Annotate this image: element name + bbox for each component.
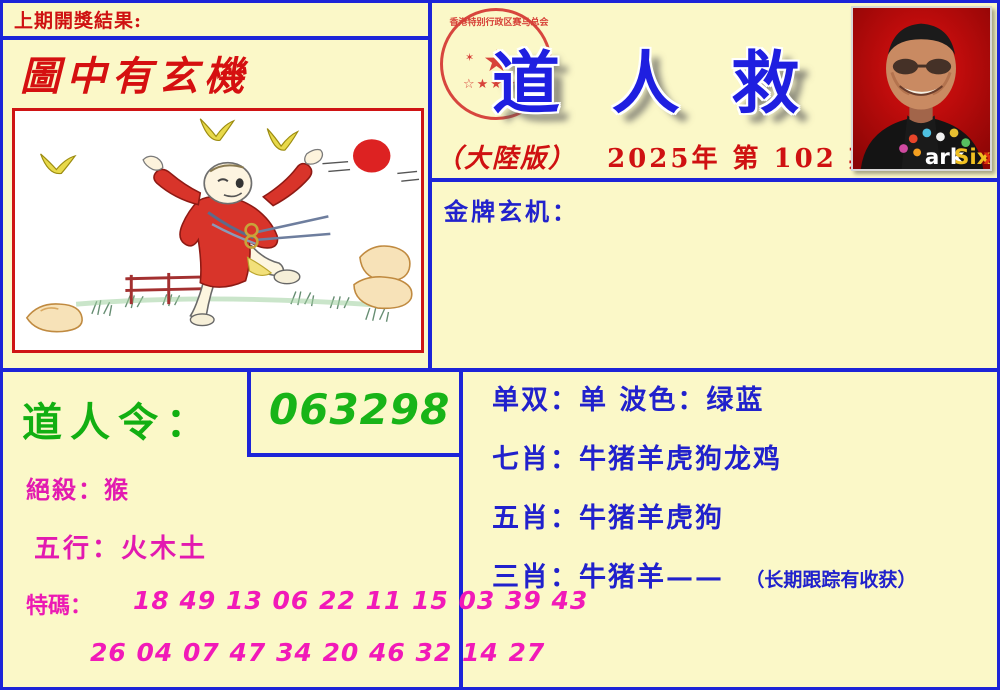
svg-text:x: x	[983, 145, 990, 169]
divider-middle-horizontal	[2, 368, 998, 372]
last-result-label: 上期開獎結果:	[14, 6, 142, 33]
forecast-row-seven-zodiac: 七肖：牛猪羊虎狗龙鸡	[470, 437, 994, 476]
lucky-code-value: 063298	[269, 385, 450, 434]
forecast-label-0: 单双：单 波色：绿蓝	[492, 385, 764, 416]
forecast-row-five-zodiac: 五肖：牛猪羊虎狗	[470, 496, 994, 535]
forecast-note-3: （长期跟踪有收获）	[745, 569, 916, 591]
juesha-line: 絕殺：猴	[26, 470, 130, 505]
forecast-label-2: 五肖：牛猪羊虎狗	[492, 503, 724, 534]
code-box: 063298	[247, 371, 459, 457]
forecast-label-3: 三肖：牛猪羊——	[492, 562, 724, 593]
portrait-image: ark Six x	[853, 8, 990, 169]
forecast-label-1: 七肖：牛猪羊虎狗龙鸡	[492, 444, 782, 475]
poster-root: 上期開獎結果: 圖中有玄機	[0, 0, 1000, 690]
divider-top-left-horizontal	[2, 36, 430, 40]
forecast-row-three-zodiac: 三肖：牛猪羊—— （长期跟踪有收获）	[470, 555, 994, 594]
special-code-label: 特碼：	[26, 588, 92, 620]
forecast-panel: 单双：单 波色：绿蓝 七肖：牛猪羊虎狗龙鸡 五肖：牛猪羊虎狗 三肖：牛猪羊—— …	[470, 378, 994, 614]
special-code-row-2: 26 04 07 47 34 20 46 32 14 27	[90, 638, 545, 667]
edition-label: （大陸版）	[436, 144, 576, 174]
issue-line: （大陸版） 2025年 第 102 期	[436, 138, 878, 175]
frame-border-top	[0, 0, 1000, 3]
author-portrait: ark Six x	[851, 6, 992, 171]
wuxing-line: 五行：火木土	[34, 528, 208, 565]
seal-star-side-icon: ✶	[465, 51, 474, 64]
divider-main-vertical	[428, 0, 432, 372]
golden-secret-label: 金牌玄机：	[444, 192, 579, 227]
frame-border-left	[0, 0, 3, 690]
riddle-illustration	[15, 111, 421, 350]
period-label: 2025年 第 102 期	[607, 144, 878, 174]
daoren-order-label: 道人令：	[22, 390, 214, 448]
divider-header-horizontal	[430, 178, 998, 182]
picture-riddle-title: 圖中有玄機	[20, 44, 250, 102]
illustration-frame	[12, 108, 424, 353]
forecast-row-oddeven-color: 单双：单 波色：绿蓝	[470, 378, 994, 417]
